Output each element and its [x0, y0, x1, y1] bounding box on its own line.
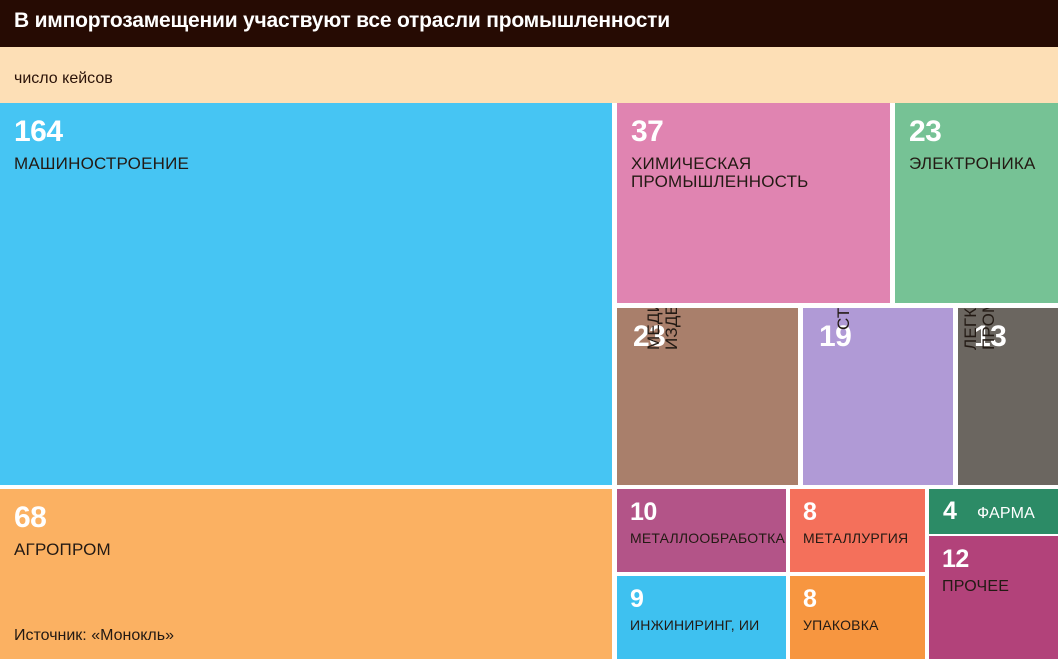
treemap-cell-upakovka[interactable]: 8 УПАКОВКА: [790, 576, 925, 659]
cell-value: 68: [14, 503, 46, 533]
cell-value: 8: [803, 500, 816, 525]
treemap-cell-mashinostroenie[interactable]: 164 МАШИНОСТРОЕНИЕ: [0, 103, 612, 485]
cell-label: СТРОЙМАТЕРИАЛЫ: [835, 308, 857, 330]
cell-label: МЕДИЦИНСКИЕ ИЗДЕЛИЯ: [645, 308, 687, 350]
cell-label: МАШИНОСТРОЕНИЕ: [14, 155, 189, 173]
cell-value: 23: [909, 117, 941, 147]
cell-label: ПРОЧЕЕ: [942, 578, 1009, 595]
treemap-cell-inzhiniring-ii[interactable]: 9 ИНЖИНИРИНГ, ИИ: [617, 576, 786, 659]
unit-band: [0, 47, 1058, 103]
treemap-cell-metalloobrabotka[interactable]: 10 МЕТАЛЛООБРАБОТКА: [617, 489, 786, 572]
treemap-cell-farma[interactable]: 4 ФАРМА: [929, 489, 1058, 534]
cell-value: 9: [630, 587, 643, 612]
cell-label: МЕТАЛЛООБРАБОТКА: [630, 531, 785, 546]
cell-label: АГРОПРОМ: [14, 541, 111, 559]
treemap-cell-prochee[interactable]: 12 ПРОЧЕЕ: [929, 536, 1058, 659]
treemap-cell-himicheskaya-promyshlennost[interactable]: 37 ХИМИЧЕСКАЯ ПРОМЫШЛЕННОСТЬ: [617, 103, 890, 303]
treemap-cell-meditsinskie-izdeliya[interactable]: 23 МЕДИЦИНСКИЕ ИЗДЕЛИЯ: [617, 308, 798, 485]
cell-label: ЭЛЕКТРОНИКА: [909, 155, 1036, 173]
treemap-cell-agroprom[interactable]: 68 АГРОПРОМ Источник: «Монокль»: [0, 489, 612, 659]
page-title: В импортозамещении участвуют все отрасли…: [14, 9, 670, 33]
treemap-cell-stroymaterialy[interactable]: 19 СТРОЙМАТЕРИАЛЫ: [803, 308, 953, 485]
cell-value: 12: [942, 547, 969, 572]
infographic-treemap-page: В импортозамещении участвуют все отрасли…: [0, 0, 1058, 659]
unit-label: число кейсов: [14, 70, 113, 88]
treemap-cell-elektronika[interactable]: 23 ЭЛЕКТРОНИКА: [895, 103, 1058, 303]
cell-value: 4: [943, 499, 956, 524]
cell-value: 10: [630, 500, 657, 525]
treemap-chart: 164 МАШИНОСТРОЕНИЕ 68 АГРОПРОМ Источник:…: [0, 103, 1058, 659]
source-note: Источник: «Монокль»: [14, 627, 174, 645]
treemap-cell-legkaya-promyshlennost[interactable]: 13 ЛЕГКАЯ ПРОМЫШЛЕННОСТЬ: [958, 308, 1058, 485]
cell-label: ФАРМА: [977, 505, 1035, 522]
cell-value: 164: [14, 117, 63, 147]
cell-label: УПАКОВКА: [803, 618, 879, 633]
cell-label: ЛЕГКАЯ ПРОМЫШЛЕННОСТЬ: [962, 308, 1004, 350]
cell-label: ИНЖИНИРИНГ, ИИ: [630, 618, 759, 633]
cell-value: 8: [803, 587, 816, 612]
cell-label: ХИМИЧЕСКАЯ ПРОМЫШЛЕННОСТЬ: [631, 155, 809, 192]
cell-label: МЕТАЛЛУРГИЯ: [803, 531, 908, 546]
treemap-cell-metallurgiya[interactable]: 8 МЕТАЛЛУРГИЯ: [790, 489, 925, 572]
cell-value: 37: [631, 117, 663, 147]
